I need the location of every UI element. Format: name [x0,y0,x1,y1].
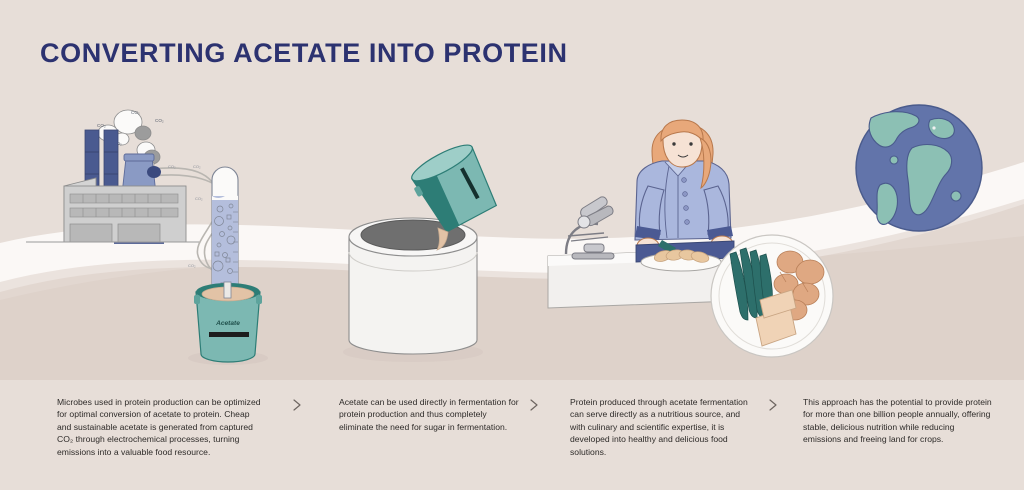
globe-highlight [932,126,935,129]
chef [635,120,734,262]
bucket-band [209,332,249,337]
step-4-caption: This approach has the potential to provi… [803,396,993,446]
factory-building [26,178,200,242]
fermentation-vat [343,218,483,362]
acetate-bucket-label: Acetate [215,320,240,327]
acetate-bucket: Acetate [188,282,268,365]
earth-globe [856,105,982,231]
microscope [566,197,614,259]
caption-row: Microbes used in protein production can … [0,396,1024,490]
svg-text:CO₂: CO₂ [97,123,106,128]
svg-text:CO₂: CO₂ [193,164,201,169]
svg-text:CO₂: CO₂ [131,110,140,115]
svg-text:CO₂: CO₂ [188,263,196,268]
infographic-canvas: CO₂ CO₂ CO₂ CO₂ [0,0,1024,490]
step-2-caption: Acetate can be used directly in fermenta… [339,396,519,433]
svg-text:CO₂: CO₂ [168,164,176,169]
svg-text:CO₂: CO₂ [195,196,203,201]
plate-of-food [711,235,833,357]
factory-illustration: CO₂ CO₂ CO₂ CO₂ [26,110,225,274]
svg-text:CO₂: CO₂ [155,118,164,123]
chevron-right-icon-3 [766,397,780,413]
pipe-joint [147,166,161,178]
step-1-caption: Microbes used in protein production can … [57,396,262,458]
step-3-caption: Protein produced through acetate ferment… [570,396,755,458]
chevron-right-icon-1 [290,397,304,413]
page-title: CONVERTING ACETATE INTO PROTEIN [40,38,568,69]
chevron-right-icon-2 [527,397,541,413]
